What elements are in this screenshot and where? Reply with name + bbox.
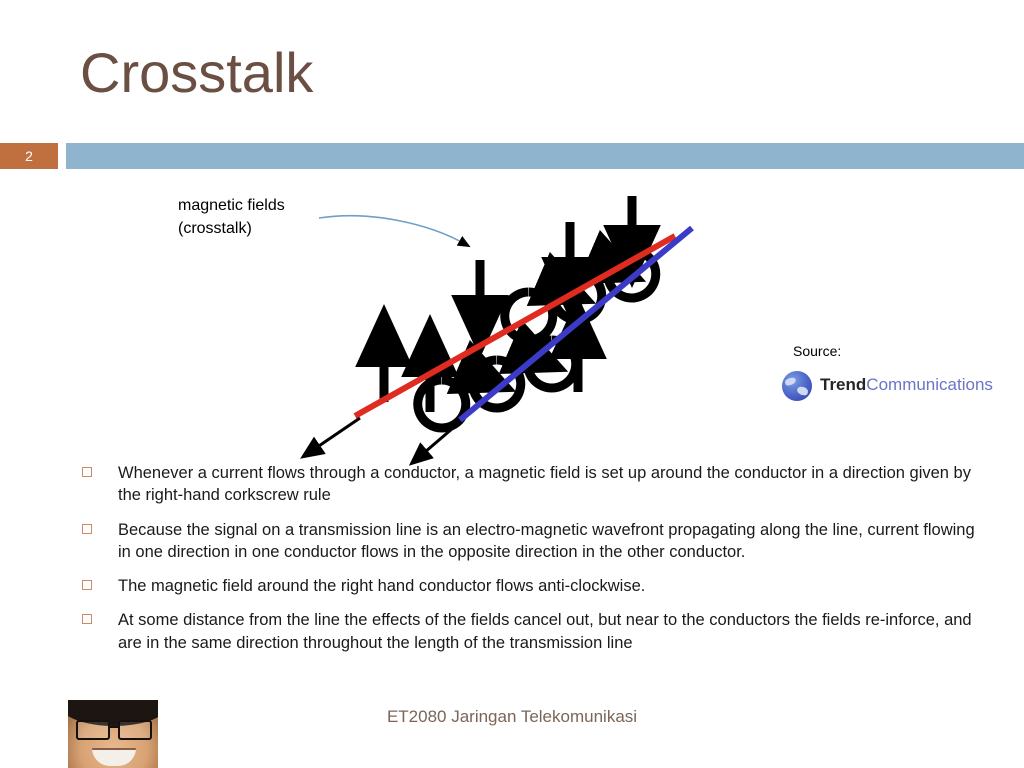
bullet-marker-icon xyxy=(82,580,92,590)
list-item-text: At some distance from the line the effec… xyxy=(118,611,972,651)
trend-logo-suffix: Communications xyxy=(866,375,993,394)
bullet-marker-icon xyxy=(82,524,92,534)
source-label: Source: xyxy=(793,343,841,359)
page-title: Crosstalk xyxy=(80,42,313,104)
bullet-list: Whenever a current flows through a condu… xyxy=(78,462,986,666)
header-accent-bar xyxy=(66,143,1024,169)
bullet-marker-icon xyxy=(82,467,92,477)
trend-logo-name: Trend xyxy=(820,375,866,394)
figure-caption: magnetic fields (crosstalk) xyxy=(178,194,285,240)
slide: Crosstalk 2 magnetic fields (crosstalk) xyxy=(0,0,1024,768)
trend-communications-logo: TrendCommunications xyxy=(782,369,974,403)
figure-caption-line1: magnetic fields xyxy=(178,194,285,217)
list-item-text: The magnetic field around the right hand… xyxy=(118,577,645,595)
list-item-text: Because the signal on a transmission lin… xyxy=(118,521,975,561)
list-item: Whenever a current flows through a condu… xyxy=(78,462,986,507)
crosstalk-diagram xyxy=(300,180,720,470)
footer-text: ET2080 Jaringan Telekomunikasi xyxy=(0,707,1024,727)
globe-icon xyxy=(782,371,812,401)
list-item: At some distance from the line the effec… xyxy=(78,609,986,654)
figure-caption-line2: (crosstalk) xyxy=(178,217,285,240)
list-item-text: Whenever a current flows through a condu… xyxy=(118,464,971,504)
slide-number-badge: 2 xyxy=(0,143,58,169)
trend-logo-text: TrendCommunications xyxy=(820,375,993,395)
list-item: The magnetic field around the right hand… xyxy=(78,575,986,597)
list-item: Because the signal on a transmission lin… xyxy=(78,519,986,564)
red-conductor-line xyxy=(355,236,675,416)
bullet-marker-icon xyxy=(82,614,92,624)
caption-leader-arrow xyxy=(319,216,465,244)
